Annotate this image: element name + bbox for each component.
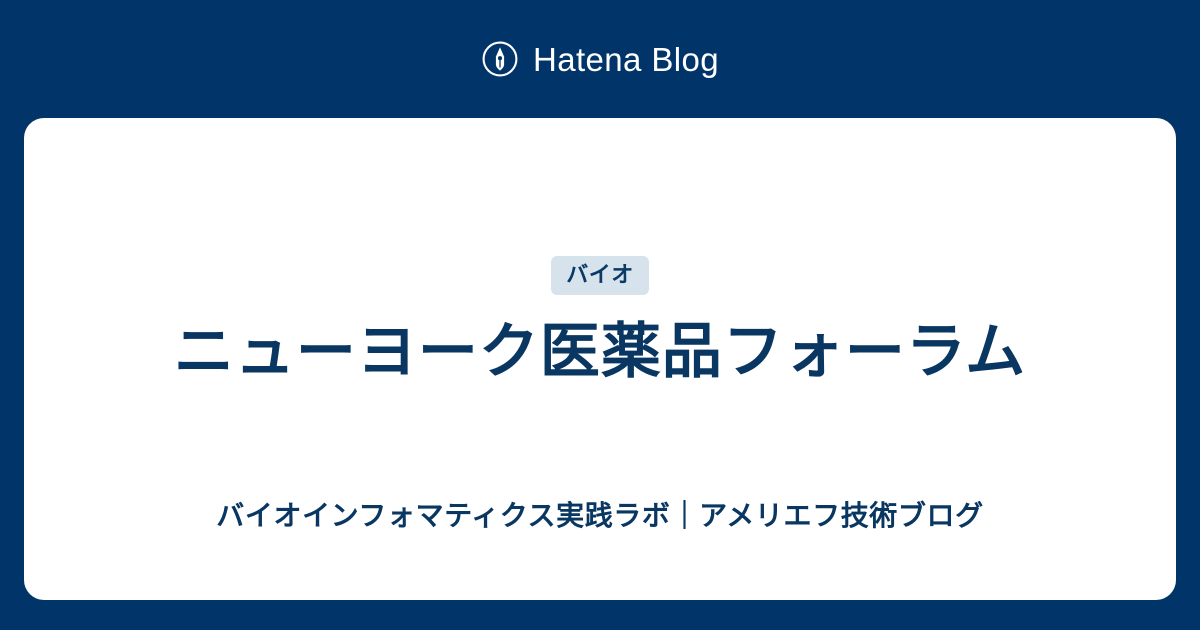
- hatena-blog-brand-header: Hatena Blog: [0, 0, 1200, 118]
- tag-row: バイオ: [551, 256, 649, 295]
- category-tag-badge[interactable]: バイオ: [551, 256, 649, 295]
- og-image-root: Hatena Blog バイオ ニューヨーク医薬品フォーラム バイオインフォマテ…: [0, 0, 1200, 630]
- entry-card-content: バイオ ニューヨーク医薬品フォーラム バイオインフォマティクス実践ラボ｜アメリエ…: [24, 118, 1176, 534]
- entry-title: ニューヨーク医薬品フォーラム: [174, 317, 1026, 388]
- entry-card: バイオ ニューヨーク医薬品フォーラム バイオインフォマティクス実践ラボ｜アメリエ…: [24, 118, 1176, 600]
- brand-name-label: Hatena Blog: [533, 43, 719, 76]
- blog-title: バイオインフォマティクス実践ラボ｜アメリエフ技術ブログ: [216, 498, 983, 534]
- fountain-pen-nib-circle-icon: [481, 40, 519, 78]
